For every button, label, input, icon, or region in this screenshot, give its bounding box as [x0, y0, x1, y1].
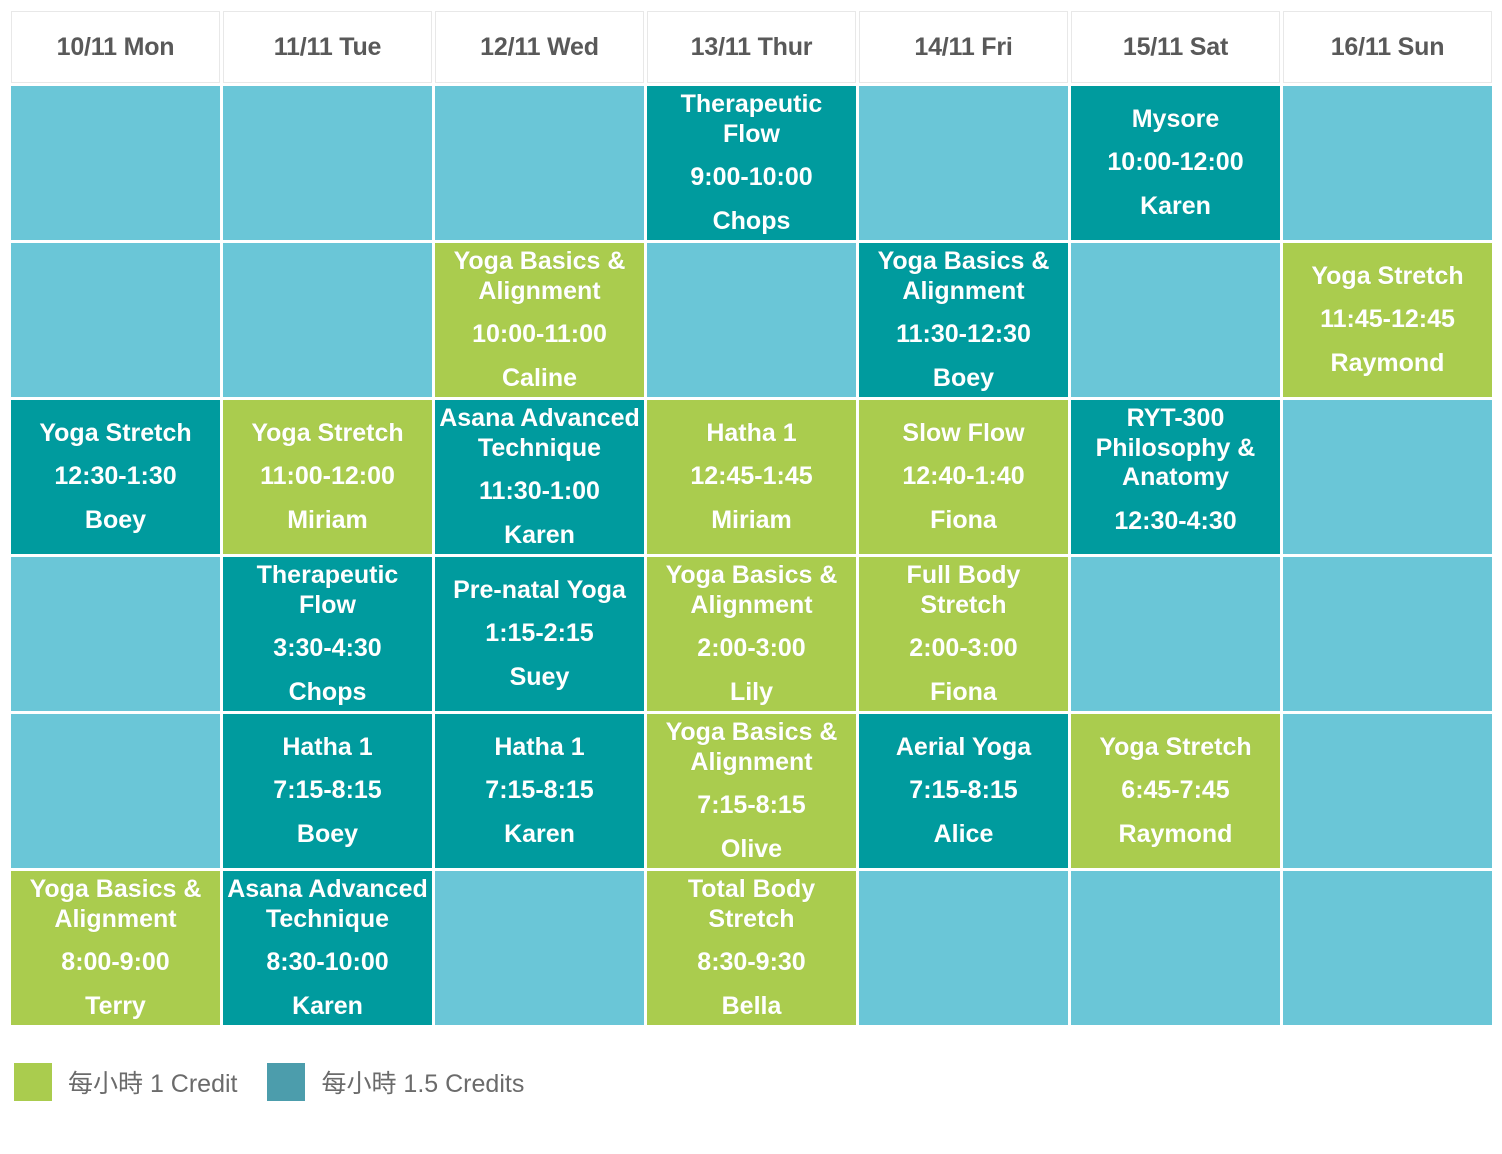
class-time: 10:00-11:00: [472, 320, 607, 350]
class-card: Slow Flow12:40-1:40Fiona: [862, 404, 1065, 550]
class-instructor: Fiona: [930, 678, 997, 708]
class-instructor: Karen: [504, 820, 575, 850]
class-slot[interactable]: Yoga Stretch11:00-12:00Miriam: [223, 400, 432, 554]
class-instructor: Bella: [722, 992, 782, 1022]
empty-slot: [859, 871, 1068, 1025]
class-name: Hatha 1: [494, 733, 584, 763]
class-time: 7:15-8:15: [909, 776, 1017, 806]
class-name: Pre-natal Yoga: [453, 576, 626, 606]
legend-item-1: 每小時 1 Credit: [14, 1063, 237, 1101]
class-name: Hatha 1: [706, 419, 796, 449]
schedule-row: Hatha 17:15-8:15BoeyHatha 17:15-8:15Kare…: [11, 714, 1492, 868]
class-slot[interactable]: Full Body Stretch2:00-3:00Fiona: [859, 557, 1068, 711]
class-name: Slow Flow: [902, 419, 1024, 449]
class-card: Aerial Yoga7:15-8:15Alice: [862, 718, 1065, 864]
class-card: Full Body Stretch2:00-3:00Fiona: [862, 561, 1065, 707]
class-name: Yoga Basics & Alignment: [862, 247, 1065, 306]
column-header-day-1: 10/11 Mon: [11, 11, 220, 83]
class-instructor: Chops: [713, 207, 791, 237]
class-time: 8:00-9:00: [61, 948, 169, 978]
class-slot[interactable]: Yoga Basics & Alignment10:00-11:00Caline: [435, 243, 644, 397]
weekly-schedule-table: 10/11 Mon11/11 Tue12/11 Wed13/11 Thur14/…: [8, 8, 1495, 1028]
class-name: RYT-300 Philosophy & Anatomy: [1074, 404, 1277, 493]
class-slot[interactable]: Aerial Yoga7:15-8:15Alice: [859, 714, 1068, 868]
empty-slot: [11, 557, 220, 711]
empty-slot: [11, 243, 220, 397]
class-instructor: Caline: [502, 364, 577, 394]
class-card: Yoga Stretch11:45-12:45Raymond: [1286, 247, 1489, 393]
empty-slot: [11, 714, 220, 868]
class-card: Yoga Basics & Alignment10:00-11:00Caline: [438, 247, 641, 393]
class-instructor: Lily: [730, 678, 773, 708]
class-instructor: Fiona: [930, 506, 997, 536]
schedule-row: Yoga Basics & Alignment8:00-9:00TerryAsa…: [11, 871, 1492, 1025]
class-card: Yoga Stretch12:30-1:30Boey: [14, 404, 217, 550]
column-header-day-3: 12/11 Wed: [435, 11, 644, 83]
empty-slot: [223, 86, 432, 240]
empty-slot: [1283, 714, 1492, 868]
schedule-body: Therapeutic Flow9:00-10:00ChopsMysore10:…: [11, 86, 1492, 1025]
class-time: 8:30-9:30: [697, 948, 805, 978]
empty-slot: [1283, 871, 1492, 1025]
class-instructor: Olive: [721, 835, 782, 865]
class-slot[interactable]: Pre-natal Yoga1:15-2:15Suey: [435, 557, 644, 711]
class-name: Yoga Stretch: [39, 419, 191, 449]
class-name: Mysore: [1132, 105, 1220, 135]
class-name: Therapeutic Flow: [226, 561, 429, 620]
empty-slot: [1283, 400, 1492, 554]
class-card: Hatha 112:45-1:45Miriam: [650, 404, 853, 550]
class-slot[interactable]: RYT-300 Philosophy & Anatomy12:30-4:30: [1071, 400, 1280, 554]
credit-legend: 每小時 1 Credit每小時 1.5 Credits: [14, 1062, 554, 1102]
empty-slot: [1071, 557, 1280, 711]
empty-slot: [1283, 557, 1492, 711]
class-slot[interactable]: Hatha 17:15-8:15Karen: [435, 714, 644, 868]
column-header-day-7: 16/11 Sun: [1283, 11, 1492, 83]
empty-slot: [435, 86, 644, 240]
class-time: 11:45-12:45: [1320, 305, 1455, 335]
empty-slot: [1071, 871, 1280, 1025]
class-slot[interactable]: Yoga Stretch6:45-7:45Raymond: [1071, 714, 1280, 868]
class-name: Yoga Stretch: [251, 419, 403, 449]
class-name: Yoga Basics & Alignment: [14, 875, 217, 934]
class-slot[interactable]: Asana Advanced Technique8:30-10:00Karen: [223, 871, 432, 1025]
class-instructor: Terry: [85, 992, 146, 1022]
class-slot[interactable]: Yoga Basics & Alignment2:00-3:00Lily: [647, 557, 856, 711]
schedule-row: Therapeutic Flow9:00-10:00ChopsMysore10:…: [11, 86, 1492, 240]
class-card: Yoga Stretch6:45-7:45Raymond: [1074, 718, 1277, 864]
class-time: 8:30-10:00: [266, 948, 388, 978]
schedule-page: 10/11 Mon11/11 Tue12/11 Wed13/11 Thur14/…: [0, 0, 1502, 1154]
column-header-day-6: 15/11 Sat: [1071, 11, 1280, 83]
class-instructor: Karen: [1140, 192, 1211, 222]
class-card: Yoga Basics & Alignment2:00-3:00Lily: [650, 561, 853, 707]
schedule-row: Yoga Stretch12:30-1:30BoeyYoga Stretch11…: [11, 400, 1492, 554]
class-time: 7:15-8:15: [697, 791, 805, 821]
column-header-day-4: 13/11 Thur: [647, 11, 856, 83]
class-time: 11:00-12:00: [260, 462, 395, 492]
class-name: Yoga Basics & Alignment: [650, 561, 853, 620]
class-time: 12:30-4:30: [1114, 507, 1236, 537]
class-instructor: Chops: [289, 678, 367, 708]
class-name: Hatha 1: [282, 733, 372, 763]
empty-slot: [1071, 243, 1280, 397]
class-slot[interactable]: Hatha 112:45-1:45Miriam: [647, 400, 856, 554]
class-card: Hatha 17:15-8:15Karen: [438, 718, 641, 864]
class-name: Asana Advanced Technique: [226, 875, 429, 934]
class-name: Therapeutic Flow: [650, 90, 853, 149]
class-time: 6:45-7:45: [1121, 776, 1229, 806]
class-slot[interactable]: Mysore10:00-12:00Karen: [1071, 86, 1280, 240]
class-name: Full Body Stretch: [862, 561, 1065, 620]
legend-label: 每小時 1.5 Credits: [321, 1064, 524, 1100]
empty-slot: [223, 243, 432, 397]
class-slot[interactable]: Therapeutic Flow9:00-10:00Chops: [647, 86, 856, 240]
class-slot[interactable]: Slow Flow12:40-1:40Fiona: [859, 400, 1068, 554]
class-instructor: Alice: [934, 820, 994, 850]
class-name: Yoga Basics & Alignment: [650, 718, 853, 777]
class-card: Yoga Basics & Alignment7:15-8:15Olive: [650, 718, 853, 864]
class-time: 12:30-1:30: [54, 462, 176, 492]
empty-slot: [11, 86, 220, 240]
schedule-row: Therapeutic Flow3:30-4:30ChopsPre-natal …: [11, 557, 1492, 711]
class-slot[interactable]: Yoga Basics & Alignment8:00-9:00Terry: [11, 871, 220, 1025]
class-card: Total Body Stretch8:30-9:30Bella: [650, 875, 853, 1021]
schedule-row: Yoga Basics & Alignment10:00-11:00Caline…: [11, 243, 1492, 397]
legend-swatch-teal: [267, 1063, 305, 1101]
class-time: 11:30-12:30: [896, 320, 1031, 350]
class-instructor: Boey: [933, 364, 994, 394]
class-card: RYT-300 Philosophy & Anatomy12:30-4:30: [1074, 404, 1277, 550]
class-time: 7:15-8:15: [273, 776, 381, 806]
legend-item-2: 每小時 1.5 Credits: [267, 1063, 524, 1101]
class-slot[interactable]: Yoga Stretch11:45-12:45Raymond: [1283, 243, 1492, 397]
class-time: 11:30-1:00: [479, 477, 600, 507]
class-instructor: Boey: [297, 820, 358, 850]
class-instructor: Boey: [85, 506, 146, 536]
class-card: Asana Advanced Technique8:30-10:00Karen: [226, 875, 429, 1021]
class-time: 1:15-2:15: [485, 619, 593, 649]
schedule-header-row: 10/11 Mon11/11 Tue12/11 Wed13/11 Thur14/…: [11, 11, 1492, 83]
class-card: Therapeutic Flow3:30-4:30Chops: [226, 561, 429, 707]
class-card: Yoga Basics & Alignment11:30-12:30Boey: [862, 247, 1065, 393]
class-slot[interactable]: Yoga Basics & Alignment11:30-12:30Boey: [859, 243, 1068, 397]
empty-slot: [1283, 86, 1492, 240]
class-slot[interactable]: Yoga Stretch12:30-1:30Boey: [11, 400, 220, 554]
column-header-day-5: 14/11 Fri: [859, 11, 1068, 83]
empty-slot: [859, 86, 1068, 240]
class-instructor: Karen: [292, 992, 363, 1022]
class-name: Aerial Yoga: [896, 733, 1031, 763]
class-slot[interactable]: Hatha 17:15-8:15Boey: [223, 714, 432, 868]
class-instructor: Karen: [504, 521, 575, 551]
empty-slot: [647, 243, 856, 397]
class-card: Therapeutic Flow9:00-10:00Chops: [650, 90, 853, 236]
class-instructor: Suey: [510, 663, 570, 693]
legend-swatch-green: [14, 1063, 52, 1101]
class-instructor: Raymond: [1331, 349, 1445, 379]
class-slot[interactable]: Total Body Stretch8:30-9:30Bella: [647, 871, 856, 1025]
class-slot[interactable]: Therapeutic Flow3:30-4:30Chops: [223, 557, 432, 711]
class-card: Yoga Stretch11:00-12:00Miriam: [226, 404, 429, 550]
class-name: Asana Advanced Technique: [438, 404, 641, 463]
class-card: Pre-natal Yoga1:15-2:15Suey: [438, 561, 641, 707]
class-name: Total Body Stretch: [650, 875, 853, 934]
class-slot[interactable]: Yoga Basics & Alignment7:15-8:15Olive: [647, 714, 856, 868]
class-time: 12:45-1:45: [690, 462, 812, 492]
legend-label: 每小時 1 Credit: [68, 1064, 237, 1100]
class-card: Asana Advanced Technique11:30-1:00Karen: [438, 404, 641, 550]
class-card: Hatha 17:15-8:15Boey: [226, 718, 429, 864]
class-time: 2:00-3:00: [909, 634, 1017, 664]
class-card: Yoga Basics & Alignment8:00-9:00Terry: [14, 875, 217, 1021]
class-instructor: Miriam: [711, 506, 792, 536]
column-header-day-2: 11/11 Tue: [223, 11, 432, 83]
class-time: 2:00-3:00: [697, 634, 805, 664]
class-time: 3:30-4:30: [273, 634, 381, 664]
class-name: Yoga Stretch: [1311, 262, 1463, 292]
class-name: Yoga Stretch: [1099, 733, 1251, 763]
class-card: Mysore10:00-12:00Karen: [1074, 90, 1277, 236]
class-name: Yoga Basics & Alignment: [438, 247, 641, 306]
empty-slot: [435, 871, 644, 1025]
class-time: 10:00-12:00: [1107, 148, 1243, 178]
class-slot[interactable]: Asana Advanced Technique11:30-1:00Karen: [435, 400, 644, 554]
class-time: 9:00-10:00: [690, 163, 812, 193]
class-instructor: Miriam: [287, 506, 368, 536]
class-instructor: Raymond: [1119, 820, 1233, 850]
class-time: 12:40-1:40: [902, 462, 1024, 492]
class-time: 7:15-8:15: [485, 776, 593, 806]
